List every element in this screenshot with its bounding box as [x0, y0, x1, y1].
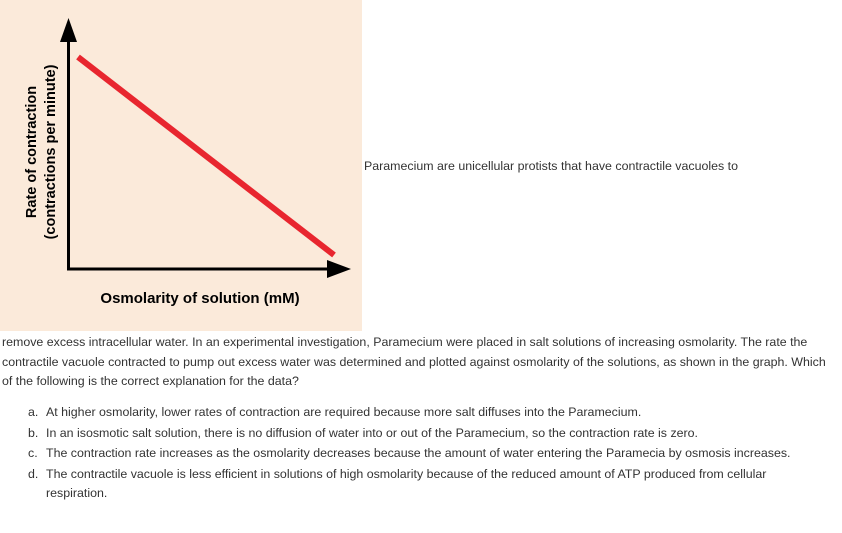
answer-choice-d[interactable]: d. The contractile vacuole is less effic… — [28, 465, 828, 504]
rate-of-contraction-chart: Rate of contraction (contractions per mi… — [0, 0, 362, 331]
y-axis-label-line2: (contractions per minute) — [43, 64, 59, 239]
answer-choice-a[interactable]: a. At higher osmolarity, lower rates of … — [28, 403, 828, 423]
answer-marker-b: b. — [28, 424, 46, 444]
answer-text-b: In an isosmotic salt solution, there is … — [46, 424, 828, 444]
answer-marker-a: a. — [28, 403, 46, 423]
x-axis-label: Osmolarity of solution (mM) — [100, 290, 299, 307]
answer-choice-c[interactable]: c. The contraction rate increases as the… — [28, 444, 828, 464]
y-axis-label-line1: Rate of contraction — [24, 86, 40, 218]
passage-intro-text: Paramecium are unicellular protists that… — [364, 158, 838, 175]
passage-body: remove excess intracellular water. In an… — [2, 333, 832, 392]
answer-text-a: At higher osmolarity, lower rates of con… — [46, 403, 828, 423]
passage-body-text: remove excess intracellular water. In an… — [2, 333, 832, 392]
answer-marker-d: d. — [28, 465, 46, 485]
answer-text-d: The contractile vacuole is less efficien… — [46, 465, 828, 504]
answer-marker-c: c. — [28, 444, 46, 464]
answer-choices-list: a. At higher osmolarity, lower rates of … — [28, 403, 828, 505]
answer-choice-b[interactable]: b. In an isosmotic salt solution, there … — [28, 424, 828, 444]
figure-panel: Rate of contraction (contractions per mi… — [0, 0, 362, 331]
answer-text-c: The contraction rate increases as the os… — [46, 444, 828, 464]
